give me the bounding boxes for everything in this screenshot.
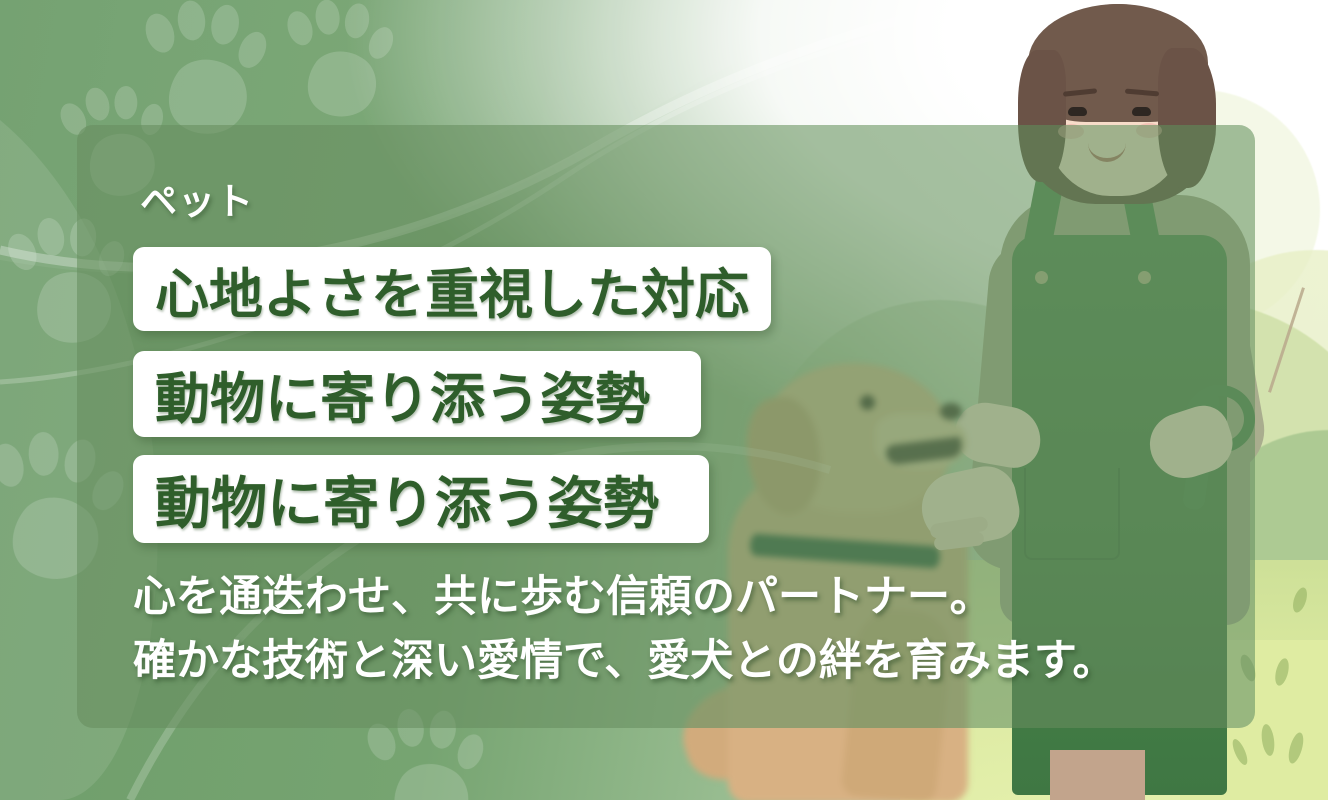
category-label: ペット [140, 171, 254, 225]
headline-pill-3: 動物に寄り添う姿勢 [133, 455, 709, 543]
description-block: 心を通迭わせ、共に歩む信頼のパートナー。 確かな技術と深い愛情で、愛犬との絆を育… [133, 565, 1116, 693]
description-line-2: 確かな技術と深い愛情で、愛犬との絆を育みます。 [133, 629, 1116, 693]
eye-left [1068, 107, 1087, 116]
description-line-1: 心を通迭わせ、共に歩む信頼のパートナー。 [133, 565, 1116, 629]
banner-stage: ペット 心地よさを重視した対応 動物に寄り添う姿勢 動物に寄り添う姿勢 心を通迭… [0, 0, 1328, 800]
headline-pill-2: 動物に寄り添う姿勢 [133, 351, 701, 437]
headline-pill-1: 心地よさを重視した対応 [133, 247, 771, 331]
person-legs [1050, 750, 1145, 800]
headline-text-1: 心地よさを重視した対応 [155, 250, 749, 329]
eye-right [1132, 107, 1151, 116]
banner-content: ペット 心地よさを重視した対応 動物に寄り添う姿勢 動物に寄り添う姿勢 心を通迭… [77, 125, 1255, 728]
headline-text-3: 動物に寄り添う姿勢 [155, 459, 659, 540]
headline-text-2: 動物に寄り添う姿勢 [155, 354, 650, 434]
